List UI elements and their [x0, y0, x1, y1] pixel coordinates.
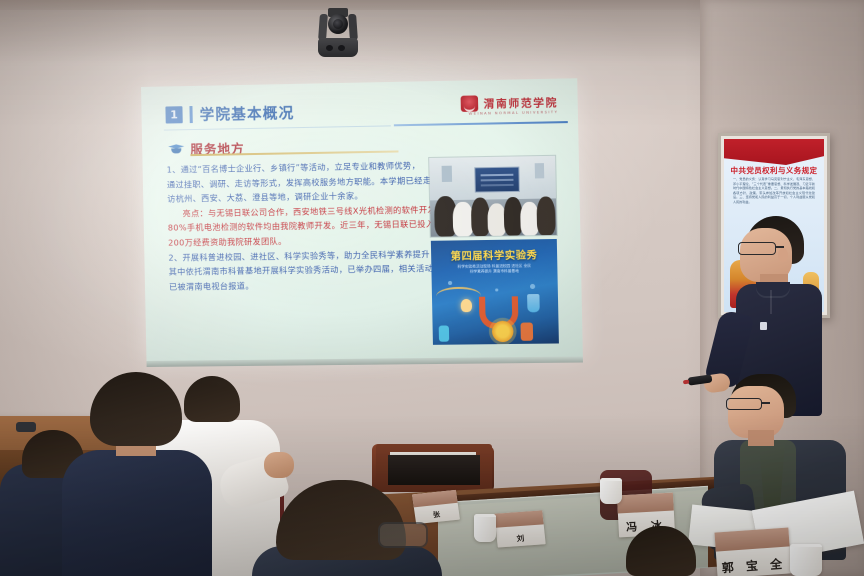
presenter-shirt-placket [770, 290, 772, 314]
photo-wall-frame-left [442, 166, 453, 182]
slide-body-text: 1、通过“百名博士企业行、乡镇行”等活动，立足专业和教师优势，通过挂职、调研、走… [167, 158, 414, 294]
camera-led-secondary-icon [338, 45, 345, 51]
wall-poster-body: 一、党员的义务：认真学习马克思列宁主义、毛泽东思想、邓小平理论、“三个代表”重要… [733, 177, 815, 205]
poster-wave-decoration [436, 287, 481, 306]
glasses-icon [726, 398, 762, 410]
photo-wall-frame-right [535, 163, 545, 178]
poster-shape [439, 325, 450, 341]
science-show-poster: 第四届科学实验秀 科学实验秀活动现场 科普进校园 进社区 全民科学素养提升 渭南… [431, 239, 559, 345]
presenter-ear [778, 248, 788, 262]
poster-dot [495, 288, 498, 291]
paper-cup [600, 478, 622, 504]
paper-cup [790, 544, 822, 576]
presenter-collar [756, 282, 790, 298]
slide-header: 1 学院基本概况 [165, 102, 294, 126]
name-plate-text: 刘 [516, 533, 526, 547]
audience-member [44, 372, 204, 576]
audience-member [616, 520, 720, 576]
glasses-icon [378, 522, 428, 548]
plate-color-strip [714, 527, 789, 551]
audience-hair [626, 526, 696, 576]
lightbulb-icon [461, 299, 473, 312]
plate-color-strip [617, 493, 674, 514]
official-neck [748, 430, 774, 446]
poster-red-banner [724, 139, 824, 165]
audience-hand [264, 452, 294, 478]
camera-lens-icon [333, 19, 343, 29]
poster-dot [448, 281, 452, 285]
name-plate: 郭 宝 全 [714, 527, 791, 576]
poster-dot [530, 284, 535, 289]
header-divider-bar [189, 106, 192, 123]
glasses-icon [738, 242, 776, 255]
ptz-camera [316, 8, 360, 60]
photo-projector-screen [474, 167, 520, 193]
presentation-slide: 1 学院基本概况 渭南师范学院 WEINAN NORMAL UNIVERSITY… [141, 78, 583, 362]
slide-subtitle-group: 服务地方 [168, 138, 245, 158]
camera-arm-right [348, 14, 358, 40]
audience-body [62, 450, 212, 576]
poster-shape [520, 322, 533, 340]
poster-title: 第四届科学实验秀 [450, 246, 537, 262]
audience-hair [276, 480, 406, 560]
audience-hair [90, 372, 182, 446]
camera-arm-left [318, 14, 328, 40]
slide-title: 学院基本概况 [199, 102, 294, 125]
slide-section-number: 1 [165, 106, 182, 123]
university-crest-icon [461, 95, 479, 112]
camera-led-icon [326, 45, 333, 51]
gear-icon [492, 321, 514, 343]
poster-body-text: 科学实验秀活动现场 科普进校园 进社区 全民科学素养提升 渭南市科普基地 [456, 264, 532, 276]
flask-icon [527, 294, 540, 312]
name-plate-text: 郭 宝 全 [721, 555, 787, 576]
name-plate: 刘 [494, 510, 545, 547]
header-rule-light [164, 125, 391, 130]
university-logo: 渭南师范学院 [461, 94, 558, 112]
university-name: 渭南师范学院 [483, 94, 558, 111]
university-name-latin: WEINAN NORMAL UNIVERSITY [469, 110, 559, 116]
graduation-cap-icon [168, 143, 184, 154]
shirt-logo-icon [760, 322, 767, 330]
slide-body-line: 已被渭南电视台报道。 [169, 276, 414, 294]
plate-color-strip [494, 510, 543, 528]
audience-member [252, 480, 442, 576]
projection-screen: 1 学院基本概况 渭南师范学院 WEINAN NORMAL UNIVERSITY… [141, 78, 583, 362]
meeting-room-scene: 1 学院基本概况 渭南师范学院 WEINAN NORMAL UNIVERSITY… [0, 0, 864, 576]
photo-person [536, 196, 555, 235]
wall-poster-header: 中共党员权利与义务规定 [731, 165, 818, 176]
meeting-photo [429, 156, 557, 237]
paper-cup [474, 514, 496, 542]
header-rule-accent [394, 121, 568, 126]
